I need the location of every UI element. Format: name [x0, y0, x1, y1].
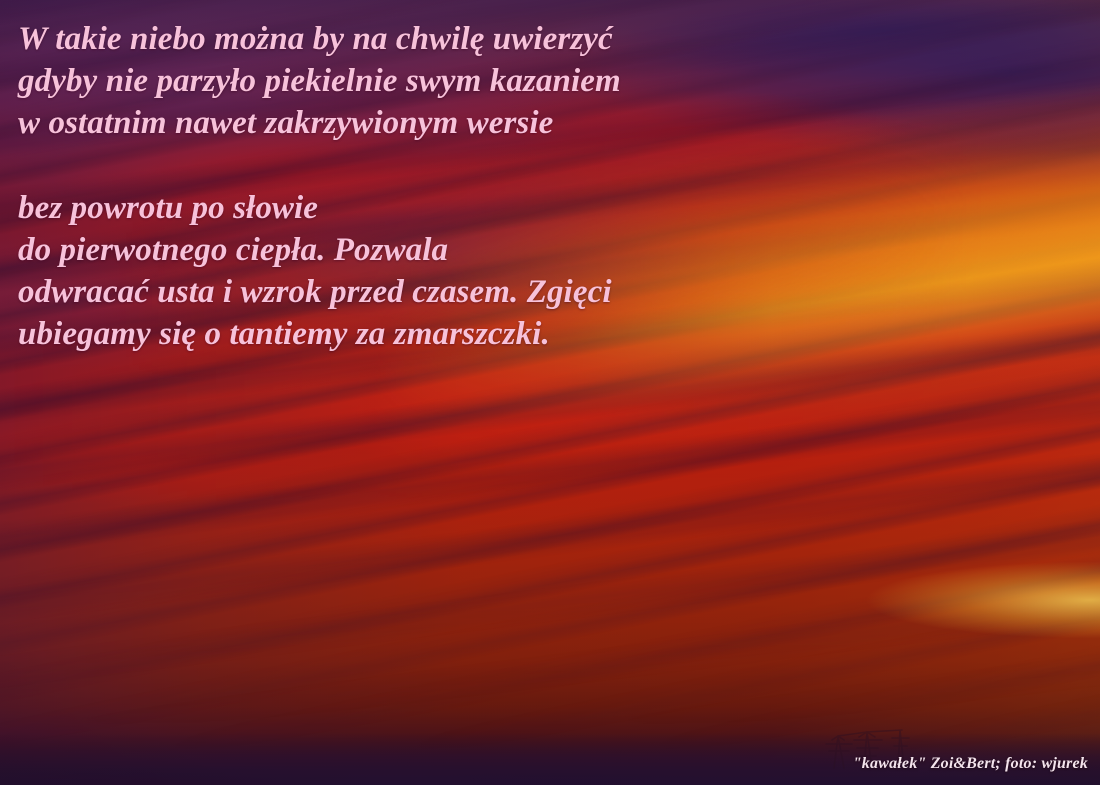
poem-line: gdyby nie parzyło piekielnie swym kazani… — [18, 60, 918, 102]
poem-line: w ostatnim nawet zakrzywionym wersie — [18, 102, 918, 144]
poem-line: bez powrotu po słowie — [18, 187, 918, 229]
poem-line: W takie niebo można by na chwilę uwierzy… — [18, 18, 918, 60]
poem-line: odwracać usta i wzrok przed czasem. Zgię… — [18, 271, 918, 313]
poem-line: ubiegamy się o tantiemy za zmarszczki. — [18, 313, 918, 355]
poem-line: do pierwotnego ciepła. Pozwala — [18, 229, 918, 271]
stanza-separator — [18, 144, 918, 187]
credit-line: "kawałek" Zoi&Bert; foto: wjurek — [853, 755, 1088, 773]
poem-text-block: W takie niebo można by na chwilę uwierzy… — [18, 18, 918, 355]
sunset-poem-poster: W takie niebo można by na chwilę uwierzy… — [0, 0, 1100, 785]
